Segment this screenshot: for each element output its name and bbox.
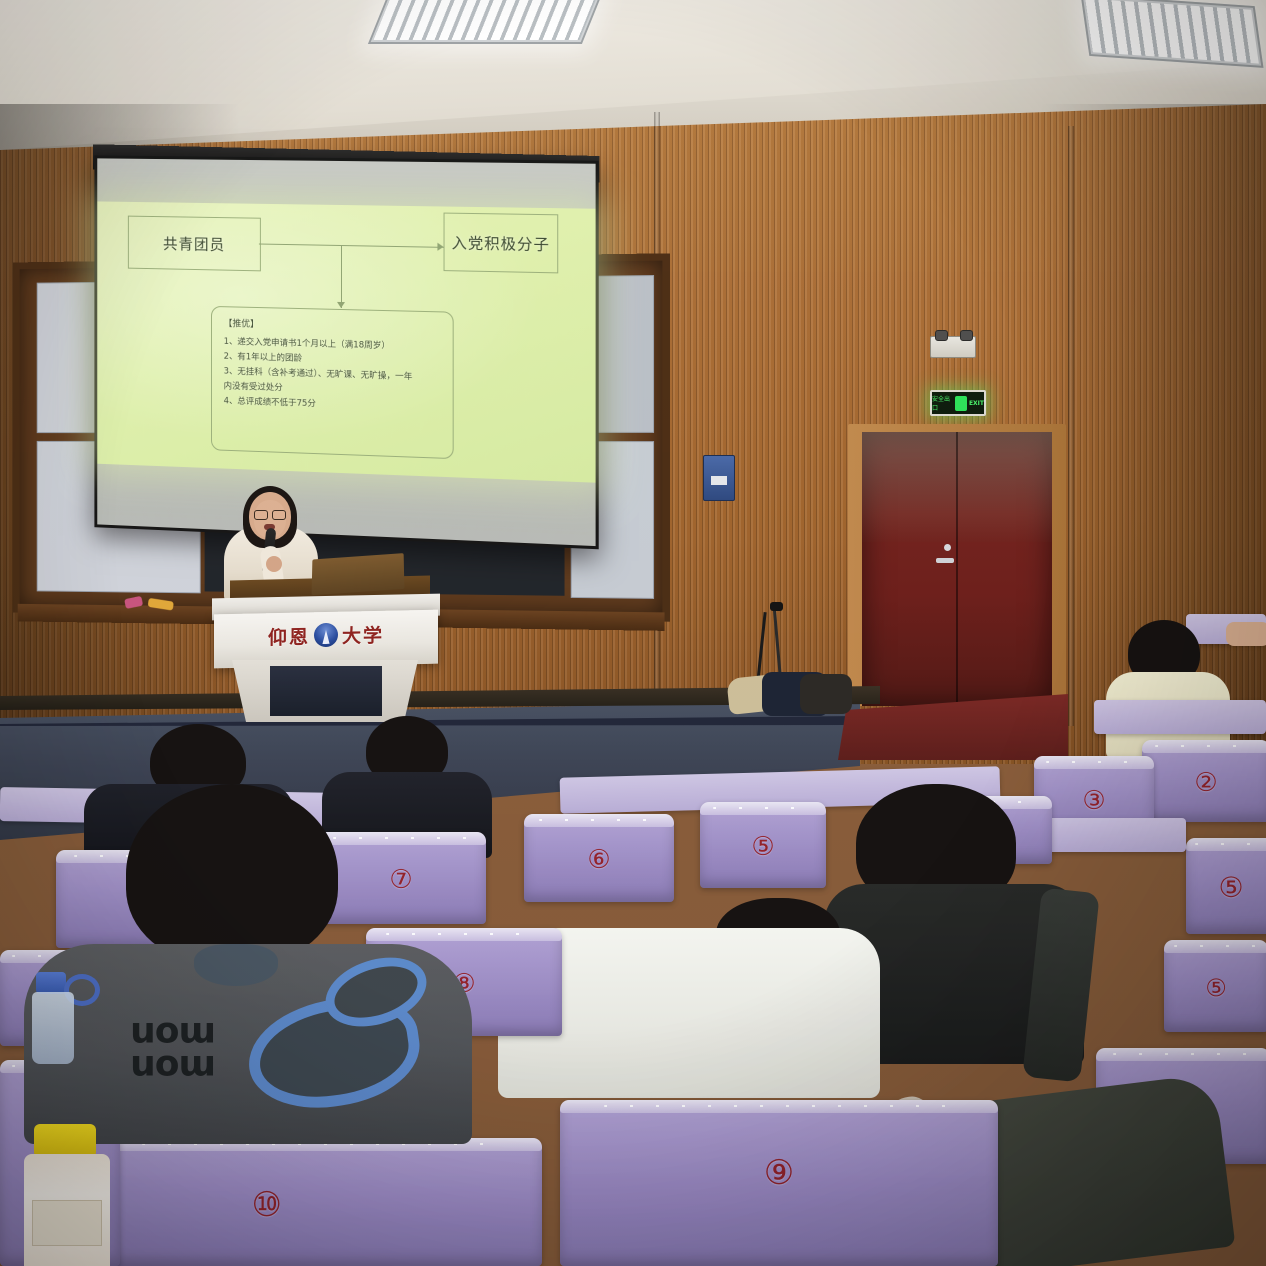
venue-name-right: 大学 <box>342 620 384 648</box>
wall-seam-right <box>1068 126 1074 726</box>
slide-box-youth-league: 共青团员 <box>128 216 261 272</box>
seat-9[interactable]: ⑨ <box>560 1100 998 1266</box>
seat-number-label: ⑤ <box>751 834 774 860</box>
venue-name-left: 仰恩 <box>268 622 310 650</box>
student-head-foreground <box>126 784 338 964</box>
slide-arrow-down-icon <box>337 302 345 308</box>
glasses-icon <box>254 510 286 518</box>
seat-number-label: ⑤ <box>1218 874 1243 902</box>
presenter-hand <box>266 556 282 572</box>
podium-branding: 仰恩 大学 <box>232 618 420 652</box>
seat-number-label: ③ <box>1082 788 1105 814</box>
slide-connector-horizontal <box>259 244 444 248</box>
presentation-slide: 共青团员 入党积极分子 【推优】 1、递交入党申请书1个月以上（满18周岁） 2… <box>97 201 595 482</box>
projection-screen: 共青团员 入党积极分子 【推优】 1、递交入党申请书1个月以上（满18周岁） 2… <box>94 155 598 549</box>
bottle-label <box>32 1200 102 1246</box>
exit-sign-english-label: EXIT <box>969 400 984 407</box>
seat-number-label: ⑥ <box>587 847 610 873</box>
requirements-title: 【推优】 <box>224 317 443 338</box>
seat-number-label: ⑩ <box>251 1188 281 1222</box>
lecture-hall-door[interactable] <box>862 432 1052 706</box>
seat-5-far-right[interactable]: ⑤ <box>1164 940 1266 1032</box>
student-arm-far-right <box>1226 622 1266 646</box>
door-split-line <box>956 432 958 706</box>
wall-control-box[interactable] <box>703 455 735 501</box>
slide-connector-vertical <box>341 245 342 308</box>
lecture-hall-photo: 共青团员 入党积极分子 【推优】 1、递交入党申请书1个月以上（满18周岁） 2… <box>0 0 1266 1266</box>
emergency-light-unit <box>930 336 976 358</box>
door-handle[interactable] <box>936 558 954 563</box>
slide-box-party-activist: 入党积极分子 <box>444 213 559 274</box>
door-lock-icon <box>944 544 951 551</box>
seat-number-label: ⑤ <box>1205 976 1227 1000</box>
tshirt-collar-splat <box>194 944 278 986</box>
seat-7[interactable]: ⑦ <box>316 832 486 924</box>
emergency-exit-sign: 安全出口 EXIT <box>930 390 986 416</box>
university-emblem-icon <box>314 623 338 648</box>
desk-surface-right-rear <box>1094 700 1266 734</box>
chalk-debris <box>125 597 203 612</box>
seat-5-right[interactable]: ⑤ <box>1186 838 1266 934</box>
seat-10[interactable]: ⑩ <box>98 1138 542 1266</box>
seat-number-label: ⑦ <box>389 867 412 893</box>
microphone-head-icon <box>770 602 783 611</box>
seat-6[interactable]: ⑥ <box>524 814 674 902</box>
podium-shelf-shadow <box>270 666 382 716</box>
running-man-icon <box>955 396 967 411</box>
seat-2[interactable]: ② <box>1142 740 1266 822</box>
seat-number-label: ② <box>1194 770 1217 796</box>
slide-requirements-box: 【推优】 1、递交入党申请书1个月以上（满18周岁） 2、有1年以上的团龄 3、… <box>211 306 454 459</box>
seat-5-center[interactable]: ⑤ <box>700 802 826 888</box>
seat-number-label: ⑨ <box>764 1156 794 1190</box>
laptop-on-podium[interactable] <box>312 553 405 595</box>
ceiling-light-fixture-left <box>368 0 602 44</box>
floor-bag-second <box>800 674 852 714</box>
exit-sign-chinese-label: 安全出口 <box>932 394 953 412</box>
